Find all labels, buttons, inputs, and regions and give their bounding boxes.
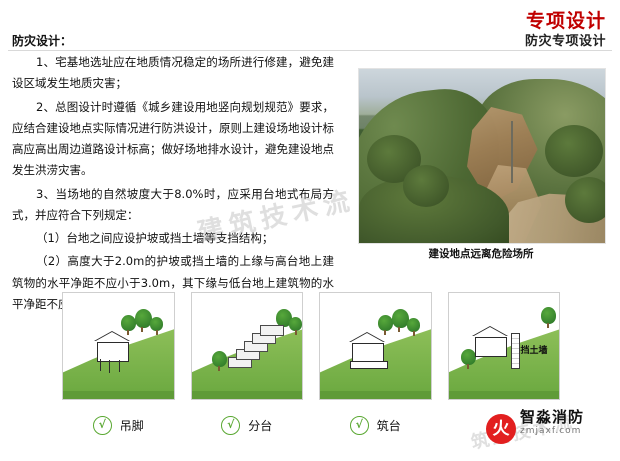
- ground-line: [192, 391, 304, 399]
- caption-label-zhutai: 筑台: [377, 417, 401, 434]
- ground-line: [63, 391, 175, 399]
- tree-icon: [378, 315, 393, 331]
- caption-cell-zhutai: √ 筑台: [319, 412, 432, 438]
- tree-icon: [289, 317, 302, 331]
- photo-utility-pole: [511, 121, 513, 183]
- paragraph-3: 3、当场地的自然坡度大于8.0%时，应采用台地式布局方式，并应符合下列规定：: [12, 184, 334, 227]
- roof-icon: [94, 332, 130, 342]
- paragraph-2: 2、总图设计时遵循《城乡建设用地竖向规划规范》要求，应结合建设地点实际情况进行防…: [12, 97, 334, 182]
- tree-icon: [212, 351, 227, 367]
- paragraph-1: 1、宅基地选址应在地质情况稳定的场所进行修建，避免建设区域发生地质灾害；: [12, 52, 334, 95]
- check-icon: √: [93, 416, 112, 435]
- ground-line: [320, 391, 432, 399]
- photo-tree-3: [545, 125, 603, 177]
- brand-logo: 火 智淼消防 zmjaxf.com: [486, 400, 612, 446]
- caption-label-diaojiao: 吊脚: [120, 417, 144, 434]
- caption-cell-fentai: √ 分台: [191, 412, 304, 438]
- body-text-block: 1、宅基地选址应在地质情况稳定的场所进行修建，避免建设区域发生地质灾害； 2、总…: [12, 52, 334, 317]
- diagram-panel-fentai: [191, 292, 304, 400]
- logo-text: 智淼消防: [520, 406, 584, 427]
- stilt-mid: [109, 360, 110, 373]
- roof-icon: [349, 333, 385, 343]
- logo-url: zmjaxf.com: [520, 426, 581, 436]
- diagram-panel-retaining-wall: 挡土墙: [448, 292, 561, 400]
- check-icon: √: [221, 416, 240, 435]
- section-title: 防灾设计：: [12, 32, 72, 49]
- roof-icon: [472, 327, 508, 337]
- ground-line: [449, 391, 561, 399]
- retaining-wall-label: 挡土墙: [521, 343, 548, 356]
- retaining-wall-icon: [511, 333, 520, 369]
- terrace-step: [260, 325, 284, 336]
- landslide-hillside-photo: [358, 68, 606, 244]
- tree-icon: [150, 317, 163, 331]
- photo-tree-2: [403, 165, 449, 207]
- page-subtitle: 防灾专项设计: [525, 30, 606, 49]
- stilt-left: [100, 359, 101, 371]
- diagram-panel-zhutai: [319, 292, 432, 400]
- tree-icon: [461, 349, 476, 365]
- caption-cell-diaojiao: √ 吊脚: [62, 412, 175, 438]
- terrace-steps: [228, 323, 284, 367]
- stilt-right: [119, 360, 120, 372]
- tree-icon: [541, 307, 556, 324]
- platform-base: [350, 361, 388, 369]
- page-title: 专项设计: [526, 6, 606, 33]
- house-icon: [352, 343, 384, 363]
- paragraph-4: （1）台地之间应设护坡或挡土墙等支挡结构；: [12, 228, 334, 249]
- flame-icon: 火: [486, 414, 516, 444]
- tree-icon: [121, 315, 136, 331]
- house-icon: [475, 337, 507, 357]
- diagram-panel-diaojiao: [62, 292, 175, 400]
- tree-icon: [407, 318, 420, 332]
- photo-caption: 建设地点远离危险场所: [358, 246, 604, 261]
- house-icon: [97, 342, 129, 362]
- page-header: 专项设计 防灾专项设计: [0, 0, 620, 52]
- header-divider: [8, 50, 612, 51]
- diagram-panel-row: 挡土墙: [62, 292, 560, 398]
- check-icon: √: [350, 416, 369, 435]
- caption-label-fentai: 分台: [248, 417, 272, 434]
- photo-tree-4: [565, 177, 606, 223]
